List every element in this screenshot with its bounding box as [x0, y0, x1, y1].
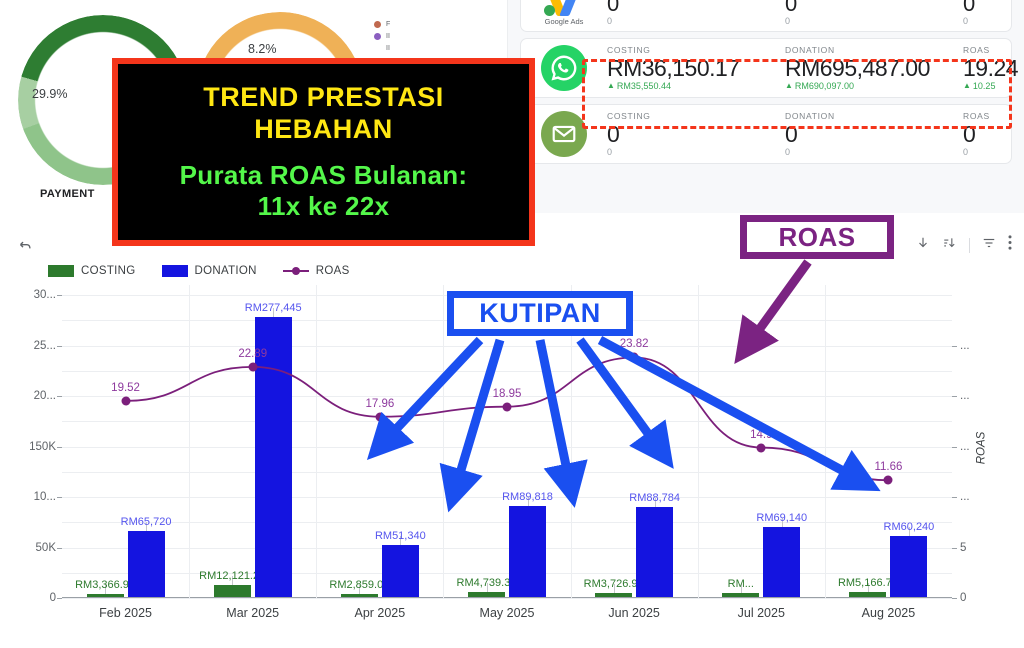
y-axis-tick-label-right: 0 — [960, 592, 966, 604]
metric-caption: ROAS — [963, 45, 1018, 55]
y-axis-tick-label: 50K — [36, 542, 56, 554]
y-axis-tick-label: 25... — [34, 340, 56, 352]
arrow-up-icon: ▲ — [963, 81, 971, 90]
channel-metrics-list: Google Ads 0 0 0 0 0 0 — [508, 0, 1024, 213]
google-ads-logo: Google Ads — [521, 0, 607, 26]
legend-item-label: II — [386, 45, 390, 52]
metric-delta: ▲RM690,097.00 — [785, 81, 963, 91]
y-axis-tick-label-right: ... — [960, 491, 970, 503]
metric-value: RM695,487.00 — [785, 56, 963, 80]
y-axis-tick-label-right: 5 — [960, 542, 966, 554]
metric-cell-costing: 0 0 — [607, 0, 785, 26]
metric-cell-roas: ROAS 0 0 — [963, 111, 1011, 156]
metric-delta: ▲RM35,550.44 — [607, 81, 785, 91]
roas-data-point[interactable] — [757, 443, 766, 452]
y-axis-tick-right — [952, 447, 957, 448]
download-icon[interactable] — [916, 236, 930, 255]
y-axis-tick-label: 150K — [29, 441, 56, 453]
metric-value: 0 — [607, 0, 785, 16]
roas-value-label: 17.96 — [365, 398, 394, 410]
metric-value: 0 — [785, 0, 963, 16]
metric-value: 0 — [963, 0, 1011, 16]
metric-delta: ▲10.25 — [963, 81, 1018, 91]
legend-swatch — [162, 265, 188, 277]
metric-cell-costing: COSTING RM36,150.17 ▲RM35,550.44 — [607, 45, 785, 90]
metric-caption: DONATION — [785, 45, 963, 55]
legend-swatch — [48, 265, 74, 277]
y-axis-title-right: ROAS — [976, 431, 988, 464]
legend-label: DONATION — [195, 265, 257, 277]
legend-item-costing[interactable]: COSTING — [48, 265, 136, 277]
roas-annotation-box: ROAS — [740, 215, 894, 259]
arrow-up-icon: ▲ — [785, 81, 793, 90]
legend-item-donation[interactable]: DONATION — [162, 265, 257, 277]
x-axis-tick-label: May 2025 — [480, 606, 535, 620]
grid-line — [62, 598, 952, 599]
roas-data-point[interactable] — [248, 362, 257, 371]
roas-data-point[interactable] — [503, 402, 512, 411]
metric-delta: 0 — [607, 16, 785, 26]
x-axis-tick-label: Apr 2025 — [354, 606, 405, 620]
donut-percent-label: 8.2% — [248, 42, 277, 56]
chart-legend: COSTING DONATION ROAS — [48, 265, 350, 277]
metric-value: 0 — [785, 122, 963, 146]
metric-caption: DONATION — [785, 111, 963, 121]
y-axis-tick-right — [952, 497, 957, 498]
metric-caption: ROAS — [963, 111, 1011, 121]
roas-label: ROAS — [778, 222, 855, 253]
metric-value: RM36,150.17 — [607, 56, 785, 80]
metric-value: 19.24 — [963, 56, 1018, 80]
metric-delta: 0 — [785, 16, 963, 26]
x-axis-tick-label: Aug 2025 — [862, 606, 916, 620]
roas-value-label: 19.52 — [111, 382, 140, 394]
roas-value-label: 18.95 — [493, 388, 522, 400]
undo-icon[interactable] — [18, 239, 33, 259]
kutipan-annotation-box: KUTIPAN — [447, 291, 633, 336]
metric-cell-donation: 0 0 — [785, 0, 963, 26]
legend-color-dot — [374, 45, 381, 52]
y-axis-tick-label-right: ... — [960, 340, 970, 352]
y-axis-tick-label-right: ... — [960, 390, 970, 402]
y-axis-tick-right — [952, 346, 957, 347]
more-vertical-icon[interactable] — [1008, 235, 1012, 255]
legend-item[interactable]: II — [374, 30, 434, 42]
y-axis-tick-label: 0 — [50, 592, 56, 604]
toolbar-divider — [969, 238, 970, 253]
chart-toolbar — [916, 235, 1012, 255]
donut-legend: F II II — [374, 18, 434, 54]
sort-alpha-icon[interactable] — [942, 236, 957, 255]
roas-value-label: 11.66 — [874, 461, 902, 473]
metric-delta: 0 — [607, 147, 785, 157]
y-axis-tick-label: 10... — [34, 491, 56, 503]
metric-delta: 0 — [963, 16, 1011, 26]
y-axis-tick — [57, 598, 62, 599]
x-axis-tick-label: Mar 2025 — [226, 606, 279, 620]
legend-color-dot — [374, 21, 381, 28]
legend-color-dot — [374, 33, 381, 40]
roas-value-label: 14.9 — [750, 429, 772, 441]
metric-value: 0 — [963, 122, 1011, 146]
metric-caption: COSTING — [607, 111, 785, 121]
legend-item-label: II — [386, 33, 390, 40]
google-ads-icon — [544, 0, 584, 16]
title-overlay-box: TREND PRESTASIHEBAHAN Purata ROAS Bulana… — [112, 58, 535, 246]
metric-value: 0 — [607, 122, 785, 146]
trend-chart-panel: COSTING DONATION ROAS COSTING / DONATION… — [0, 213, 1024, 648]
legend-item-roas[interactable]: ROAS — [283, 265, 350, 277]
metric-row-google-ads[interactable]: Google Ads 0 0 0 0 0 0 — [520, 0, 1012, 32]
roas-value-label: 22.89 — [238, 348, 267, 360]
y-axis-tick-right — [952, 548, 957, 549]
overlay-title: TREND PRESTASIHEBAHAN — [203, 82, 444, 146]
metric-cell-donation: DONATION RM695,487.00 ▲RM690,097.00 — [785, 45, 963, 90]
roas-data-point[interactable] — [121, 396, 130, 405]
donut-chart-title: PAYMENT — [40, 188, 95, 200]
kutipan-label: KUTIPAN — [479, 298, 601, 329]
x-axis-tick-label: Jun 2025 — [608, 606, 659, 620]
metric-caption: COSTING — [607, 45, 785, 55]
filter-icon[interactable] — [982, 236, 996, 255]
y-axis-tick-right — [952, 598, 957, 599]
arrow-up-icon: ▲ — [607, 81, 615, 90]
roas-data-point[interactable] — [884, 476, 893, 485]
whatsapp-icon — [541, 45, 587, 91]
metric-delta: 0 — [785, 147, 963, 157]
metric-delta: 0 — [963, 147, 1011, 157]
mail-icon — [541, 111, 587, 157]
metric-cell-roas: ROAS 19.24 ▲10.25 — [963, 45, 1018, 90]
metric-cell-costing: COSTING 0 0 — [607, 111, 785, 156]
roas-data-point[interactable] — [630, 353, 639, 362]
overlay-subtitle: Purata ROAS Bulanan:11x ke 22x — [180, 160, 468, 222]
legend-label: COSTING — [81, 265, 136, 277]
donut-percent-label: 29.9% — [32, 87, 67, 101]
metric-row-email[interactable]: COSTING 0 0 DONATION 0 0 ROAS 0 0 — [520, 104, 1012, 164]
y-axis-tick-right — [952, 396, 957, 397]
google-ads-label: Google Ads — [545, 17, 584, 26]
y-axis-tick-label: 20... — [34, 390, 56, 402]
x-axis-tick-label: Jul 2025 — [738, 606, 785, 620]
metric-cell-donation: DONATION 0 0 — [785, 111, 963, 156]
legend-item-label: F — [386, 21, 390, 28]
roas-value-label: 23.82 — [620, 338, 649, 350]
x-axis-tick-label: Feb 2025 — [99, 606, 152, 620]
metric-row-whatsapp[interactable]: COSTING RM36,150.17 ▲RM35,550.44 DONATIO… — [520, 38, 1012, 98]
legend-item[interactable]: II — [374, 42, 434, 54]
legend-label: ROAS — [316, 265, 350, 277]
metric-cell-roas: 0 0 — [963, 0, 1011, 26]
legend-line-marker — [283, 265, 309, 277]
y-axis-tick-label: 30... — [34, 289, 56, 301]
legend-item[interactable]: F — [374, 18, 434, 30]
y-axis-tick-label-right: ... — [960, 441, 970, 453]
roas-data-point[interactable] — [375, 412, 384, 421]
